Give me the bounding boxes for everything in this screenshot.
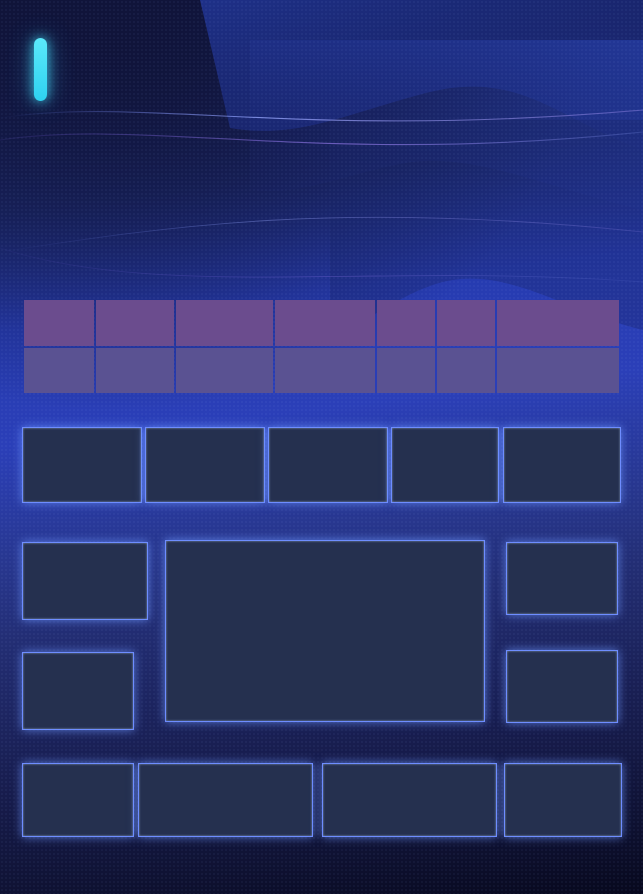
photo-card-vacuum-pumping (503, 427, 621, 503)
photo-card-var-compensator (145, 427, 265, 503)
photo-acquisition-system (268, 427, 388, 503)
photo-vacuum-pumping-system (503, 427, 621, 503)
header (0, 0, 643, 132)
photo-card-power-supply (506, 542, 618, 615)
accent-bar (34, 38, 47, 101)
photo-quench-protection-control-system (22, 542, 148, 620)
cell-minor-radius (437, 348, 495, 393)
photo-card-cryogenic (391, 427, 499, 503)
photo-card-quench-protection (22, 542, 148, 620)
table-row (24, 348, 619, 393)
cell-weight (275, 348, 375, 393)
photo-baking-and-water-cooling-system (504, 763, 622, 837)
col-diameter (176, 300, 273, 346)
cell-diameter (176, 348, 273, 393)
poster-root (0, 0, 643, 894)
cell-total-heating-power (497, 348, 619, 393)
photo-superconducting-magnet-system (22, 763, 134, 837)
photo-card-acquisition (268, 427, 388, 503)
photo-card-superconducting-magnet (22, 763, 134, 837)
photo-card-baking-water-cooling (504, 763, 622, 837)
photo-cryogenic-system (391, 427, 499, 503)
photo-card-neutral-beam (506, 650, 618, 723)
photo-electron-cyclotron-system (22, 427, 142, 503)
col-minor-radius (437, 300, 495, 346)
table-header-row (24, 300, 619, 346)
photo-neutral-beam-injection-system (506, 650, 618, 723)
col-height (96, 300, 174, 346)
photo-ion-cyclotron-heating-system (322, 763, 497, 837)
cell-major-radius (377, 348, 435, 393)
cell-device (24, 348, 94, 393)
col-major-radius (377, 300, 435, 346)
photo-tokamak-vacuum-vessel-interior (165, 540, 485, 722)
photo-var-compensator-and-filter-system (145, 427, 265, 503)
photo-card-diagnostic (22, 652, 134, 730)
photo-diagnostic-system (22, 652, 134, 730)
col-total-heating-power (497, 300, 619, 346)
photo-card-tokamak-interior (165, 540, 485, 722)
photo-card-electron-cyclotron (22, 427, 142, 503)
parameters-table (22, 298, 621, 395)
photo-power-supply-system (506, 542, 618, 615)
photo-card-lower-hybrid (138, 763, 313, 837)
cell-height (96, 348, 174, 393)
photo-card-ion-cyclotron (322, 763, 497, 837)
col-weight (275, 300, 375, 346)
col-device (24, 300, 94, 346)
photo-lower-hybrid-heating-system (138, 763, 313, 837)
